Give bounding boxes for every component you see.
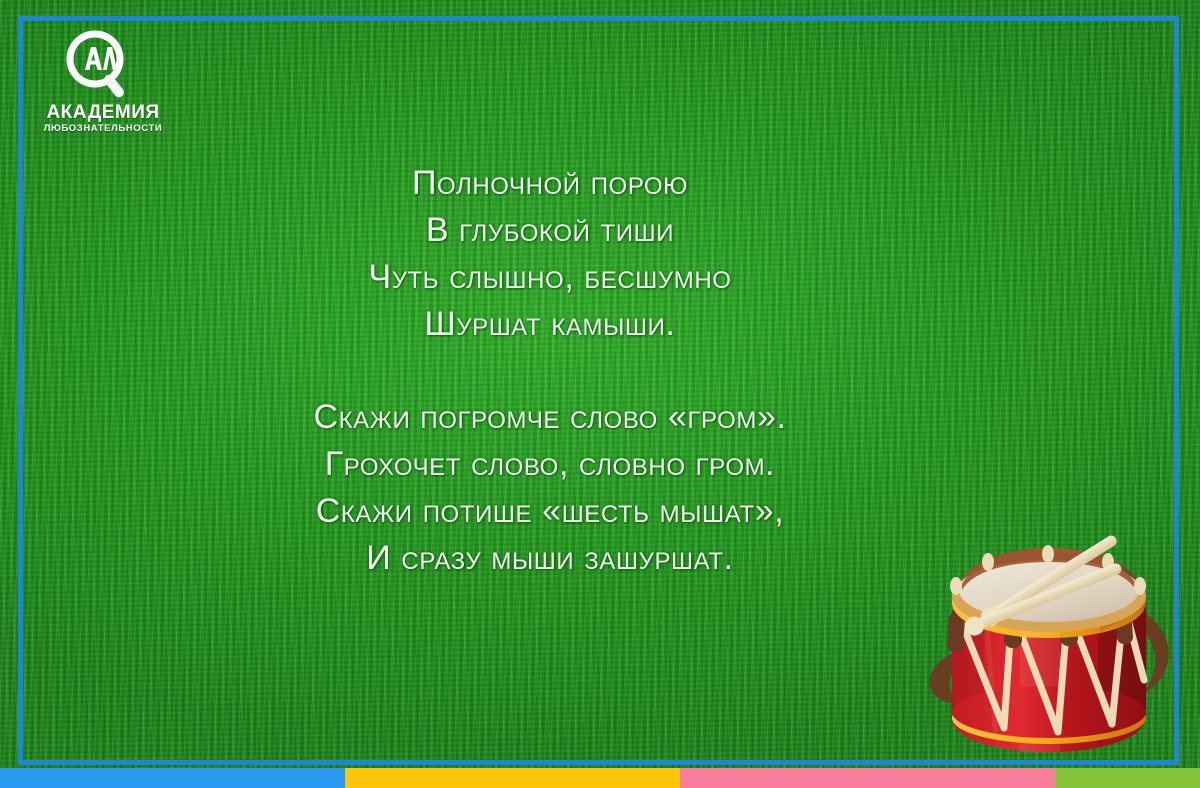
snare-drum-illustration [900,490,1190,760]
brand-logo-text: АКАДЕМИЯ ЛЮБОЗНАТЕЛЬНОСТИ [33,103,173,134]
colorbar-segment-green [1055,768,1200,788]
poem-line: Чуть слышно, бесшумно [100,254,1000,301]
poem-line: Скажи потише «шесть мышат», [100,488,1000,535]
poem-line: Скажи погромче слово «гром». [100,394,1000,441]
poster-canvas: АКАДЕМИЯ ЛЮБОЗНАТЕЛЬНОСТИ Полночной поро… [0,0,1200,788]
colorbar-segment-yellow [345,768,680,788]
brand-logo: АКАДЕМИЯ ЛЮБОЗНАТЕЛЬНОСТИ [33,26,173,138]
stanza-1: Полночной порою В глубокой тиши Чуть слы… [100,160,1000,348]
brand-subtitle: ЛЮБОЗНАТЕЛЬНОСТИ [33,124,173,134]
stanza-2: Скажи погромче слово «гром». Грохочет сл… [100,394,1000,582]
poem-line: И сразу мыши зашуршат. [100,535,1000,582]
poem-line: Полночной порою [100,160,1000,207]
magnifier-with-monogram-icon [33,26,173,102]
brand-title: АКАДЕМИЯ [33,103,173,122]
colorbar-segment-pink [680,768,1055,788]
poem-line: В глубокой тиши [100,207,1000,254]
colorbar-segment-blue [0,768,345,788]
poem-block: Полночной порою В глубокой тиши Чуть слы… [100,160,1000,582]
poem-line: Шуршат камыши. [100,301,1000,348]
bottom-color-bar [0,768,1200,788]
poem-line: Грохочет слово, словно гром. [100,441,1000,488]
